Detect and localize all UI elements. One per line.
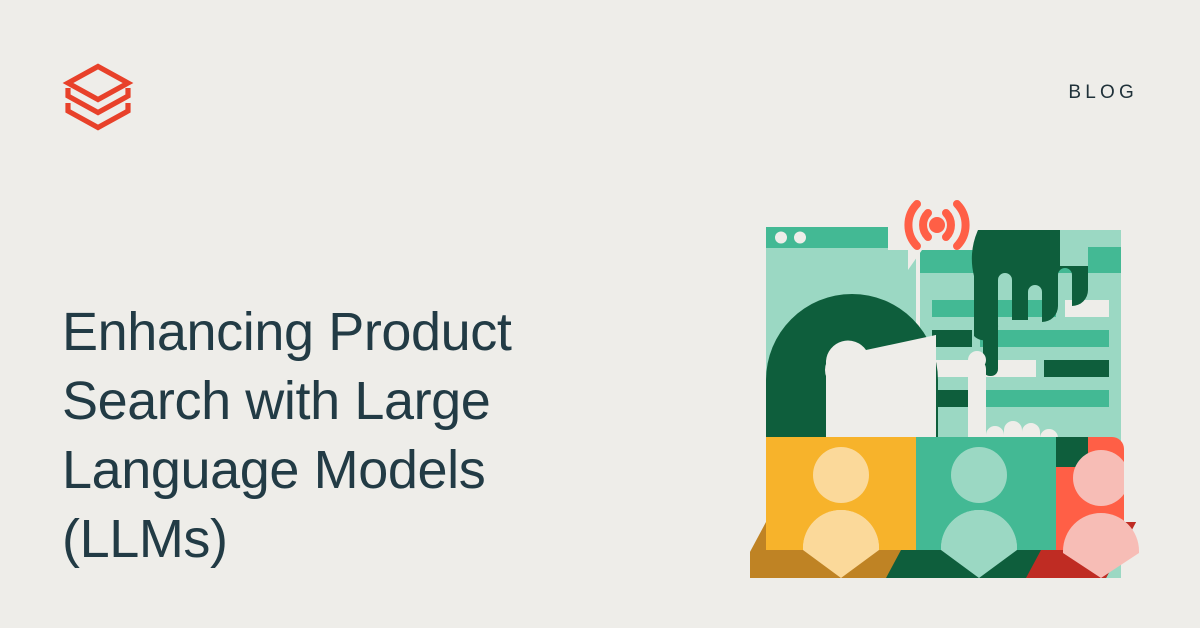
title-line-3: Language Models <box>62 436 622 505</box>
result-bar <box>980 330 1109 347</box>
page-title: Enhancing Product Search with Large Lang… <box>62 298 622 574</box>
result-bar <box>980 390 1109 407</box>
browser-dot-right <box>794 232 806 244</box>
avatar-head <box>951 447 1007 503</box>
title-line-1: Enhancing Product <box>62 298 622 367</box>
result-bar <box>1044 360 1109 377</box>
title-line-2: Search with Large <box>62 367 622 436</box>
result-bar <box>1065 300 1109 317</box>
avatar-head <box>1073 450 1129 506</box>
browser-dot-left <box>775 232 787 244</box>
hero-illustration <box>750 180 1150 580</box>
social-share-card: BLOG Enhancing Product Search with Large… <box>0 0 1200 628</box>
databricks-logo[interactable] <box>62 58 134 134</box>
result-bar <box>932 330 972 347</box>
user-cards <box>750 437 1139 578</box>
avatar-head <box>813 447 869 503</box>
title-line-4: (LLMs) <box>62 505 622 574</box>
broadcast-center-dot <box>929 217 945 233</box>
blog-kicker: BLOG <box>1068 82 1138 104</box>
